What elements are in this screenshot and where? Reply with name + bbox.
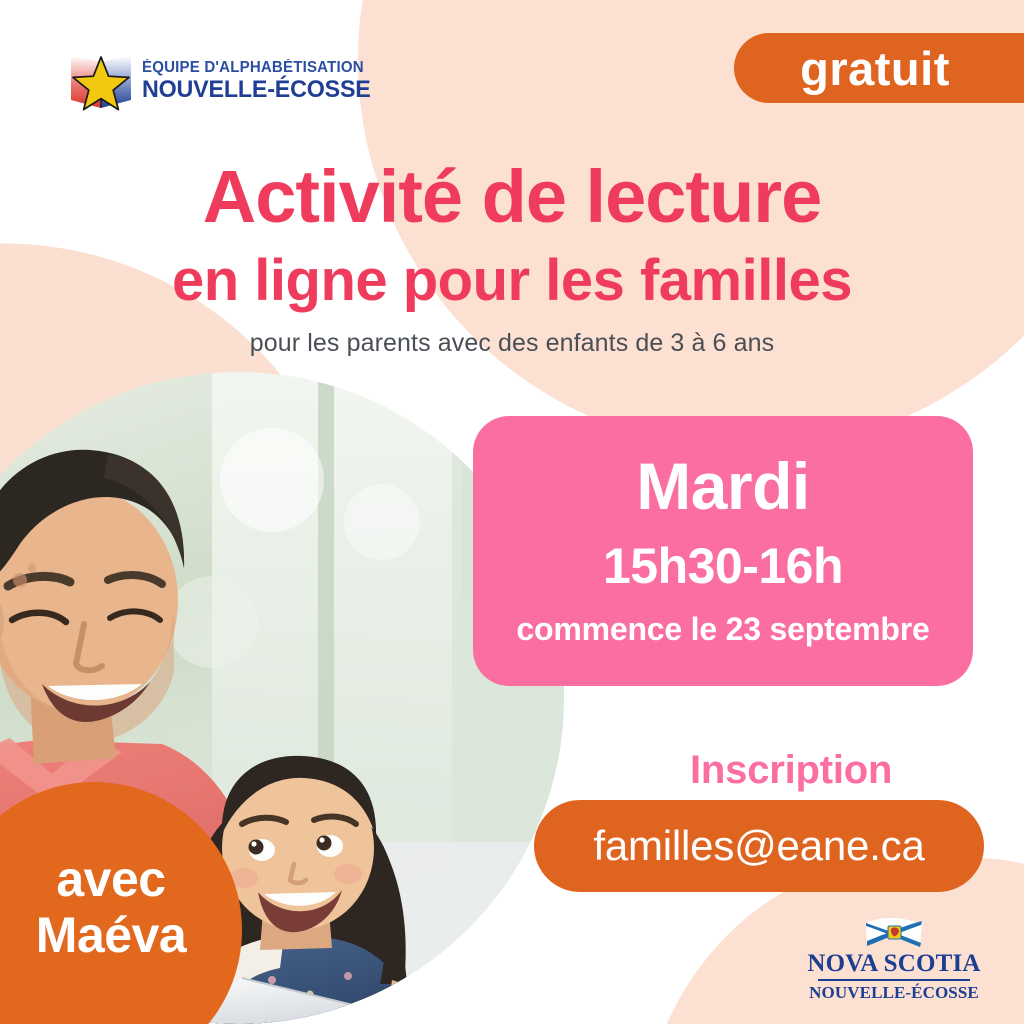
eane-logo-wordmark: ÉQUIPE D'ALPHABÉTISATION NOUVELLE-ÉCOSSE [142, 60, 378, 102]
registration-label: Inscription [690, 748, 892, 793]
nova-scotia-flag-icon [864, 916, 924, 950]
nova-scotia-divider [818, 979, 970, 981]
page-title: Activité de lecture [0, 160, 1024, 234]
gratuit-badge-label: gratuit [800, 41, 950, 96]
eane-logo-line1: ÉQUIPE D'ALPHABÉTISATION [142, 60, 371, 76]
registration-email[interactable]: familles@eane.ca [593, 822, 924, 870]
eane-logo-line2: NOUVELLE-ÉCOSSE [142, 78, 371, 102]
poster-root: ÉQUIPE D'ALPHABÉTISATION NOUVELLE-ÉCOSSE… [0, 0, 1024, 1024]
gratuit-badge: gratuit [734, 33, 1024, 103]
schedule-day: Mardi [636, 453, 810, 519]
eane-logo: ÉQUIPE D'ALPHABÉTISATION NOUVELLE-ÉCOSSE [68, 50, 378, 112]
nova-scotia-government-logo: NOVA SCOTIA NOUVELLE-ÉCOSSE [812, 916, 976, 1001]
poster-content: ÉQUIPE D'ALPHABÉTISATION NOUVELLE-ÉCOSSE… [0, 0, 1024, 1024]
nova-scotia-name-en: NOVA SCOTIA [807, 951, 980, 976]
page-subtitle: en ligne pour les familles [0, 252, 1024, 310]
star-on-open-book-icon [68, 50, 134, 112]
schedule-time: 15h30-16h [603, 541, 843, 591]
schedule-start-date: commence le 23 septembre [516, 613, 929, 645]
facilitator-name: Maéva [36, 909, 186, 962]
registration-email-pill[interactable]: familles@eane.ca [534, 800, 984, 892]
schedule-card: Mardi 15h30-16h commence le 23 septembre [473, 416, 973, 686]
nova-scotia-name-fr: NOUVELLE-ÉCOSSE [809, 984, 979, 1001]
audience-note: pour les parents avec des enfants de 3 à… [0, 329, 1024, 358]
facilitator-prefix: avec [56, 853, 165, 906]
headline-block: Activité de lecture en ligne pour les fa… [0, 160, 1024, 358]
